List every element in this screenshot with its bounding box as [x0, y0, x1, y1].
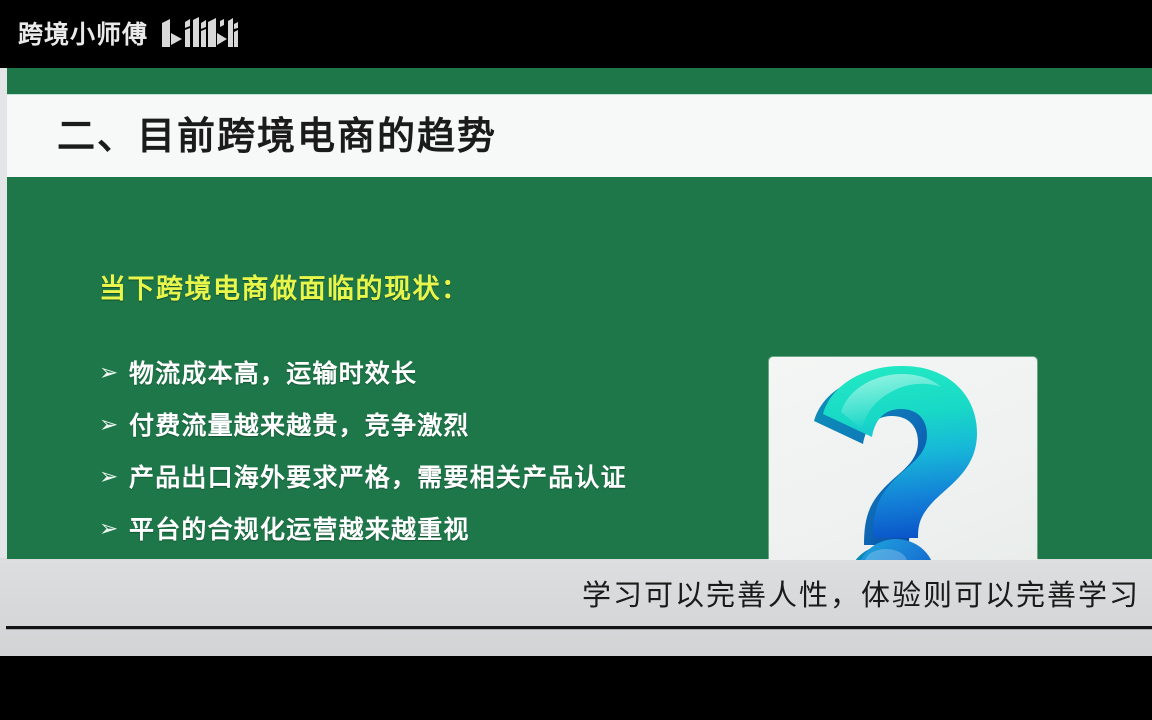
uploader-name: 跨境小师傅	[18, 22, 148, 47]
list-item: ➢ 物流成本高，运输时效长	[99, 347, 759, 399]
presentation-slide: 二、目前跨境电商的趋势 当下跨境电商做面临的现状： ➢ 物流成本高，运输时效长 …	[0, 68, 1152, 656]
caption-divider-highlight	[6, 629, 1152, 630]
bullet-text: 产品出口海外要求严格，需要相关产品认证	[129, 465, 627, 490]
slide-content-area: 当下跨境电商做面临的现状： ➢ 物流成本高，运输时效长 ➢ 付费流量越来越贵，竞…	[7, 177, 1152, 559]
bullet-text: 平台的合规化运营越来越重视	[129, 517, 470, 542]
slide-footer-quote: 学习可以完善人性，体验则可以完善学习	[0, 560, 1140, 610]
video-top-overlay-bar: 跨境小师傅	[0, 0, 1152, 68]
bullet-arrow-icon: ➢	[99, 414, 129, 437]
list-item: ➢ 平台的合规化运营越来越重视	[99, 503, 759, 555]
bullet-text: 付费流量越来越贵，竞争激烈	[129, 413, 470, 438]
slide-left-gutter	[0, 68, 7, 558]
bullet-arrow-icon: ➢	[99, 362, 129, 385]
bullet-text: 物流成本高，运输时效长	[129, 361, 417, 386]
slide-title-band: 二、目前跨境电商的趋势	[7, 94, 1152, 177]
bilibili-wordmark-icon	[160, 17, 238, 51]
bullet-arrow-icon: ➢	[99, 518, 129, 541]
slide-title: 二、目前跨境电商的趋势	[57, 117, 497, 155]
slide-top-green-strip	[7, 68, 1152, 94]
list-item: ➢ 产品出口海外要求严格，需要相关产品认证	[99, 451, 759, 503]
list-item: ➢ 付费流量越来越贵，竞争激烈	[99, 399, 759, 451]
bullet-arrow-icon: ➢	[99, 466, 129, 489]
slide-subtitle: 当下跨境电商做面临的现状：	[99, 276, 470, 303]
video-player-screen: 跨境小师傅	[0, 0, 1152, 720]
player-bottom-letterbox	[0, 656, 1152, 720]
